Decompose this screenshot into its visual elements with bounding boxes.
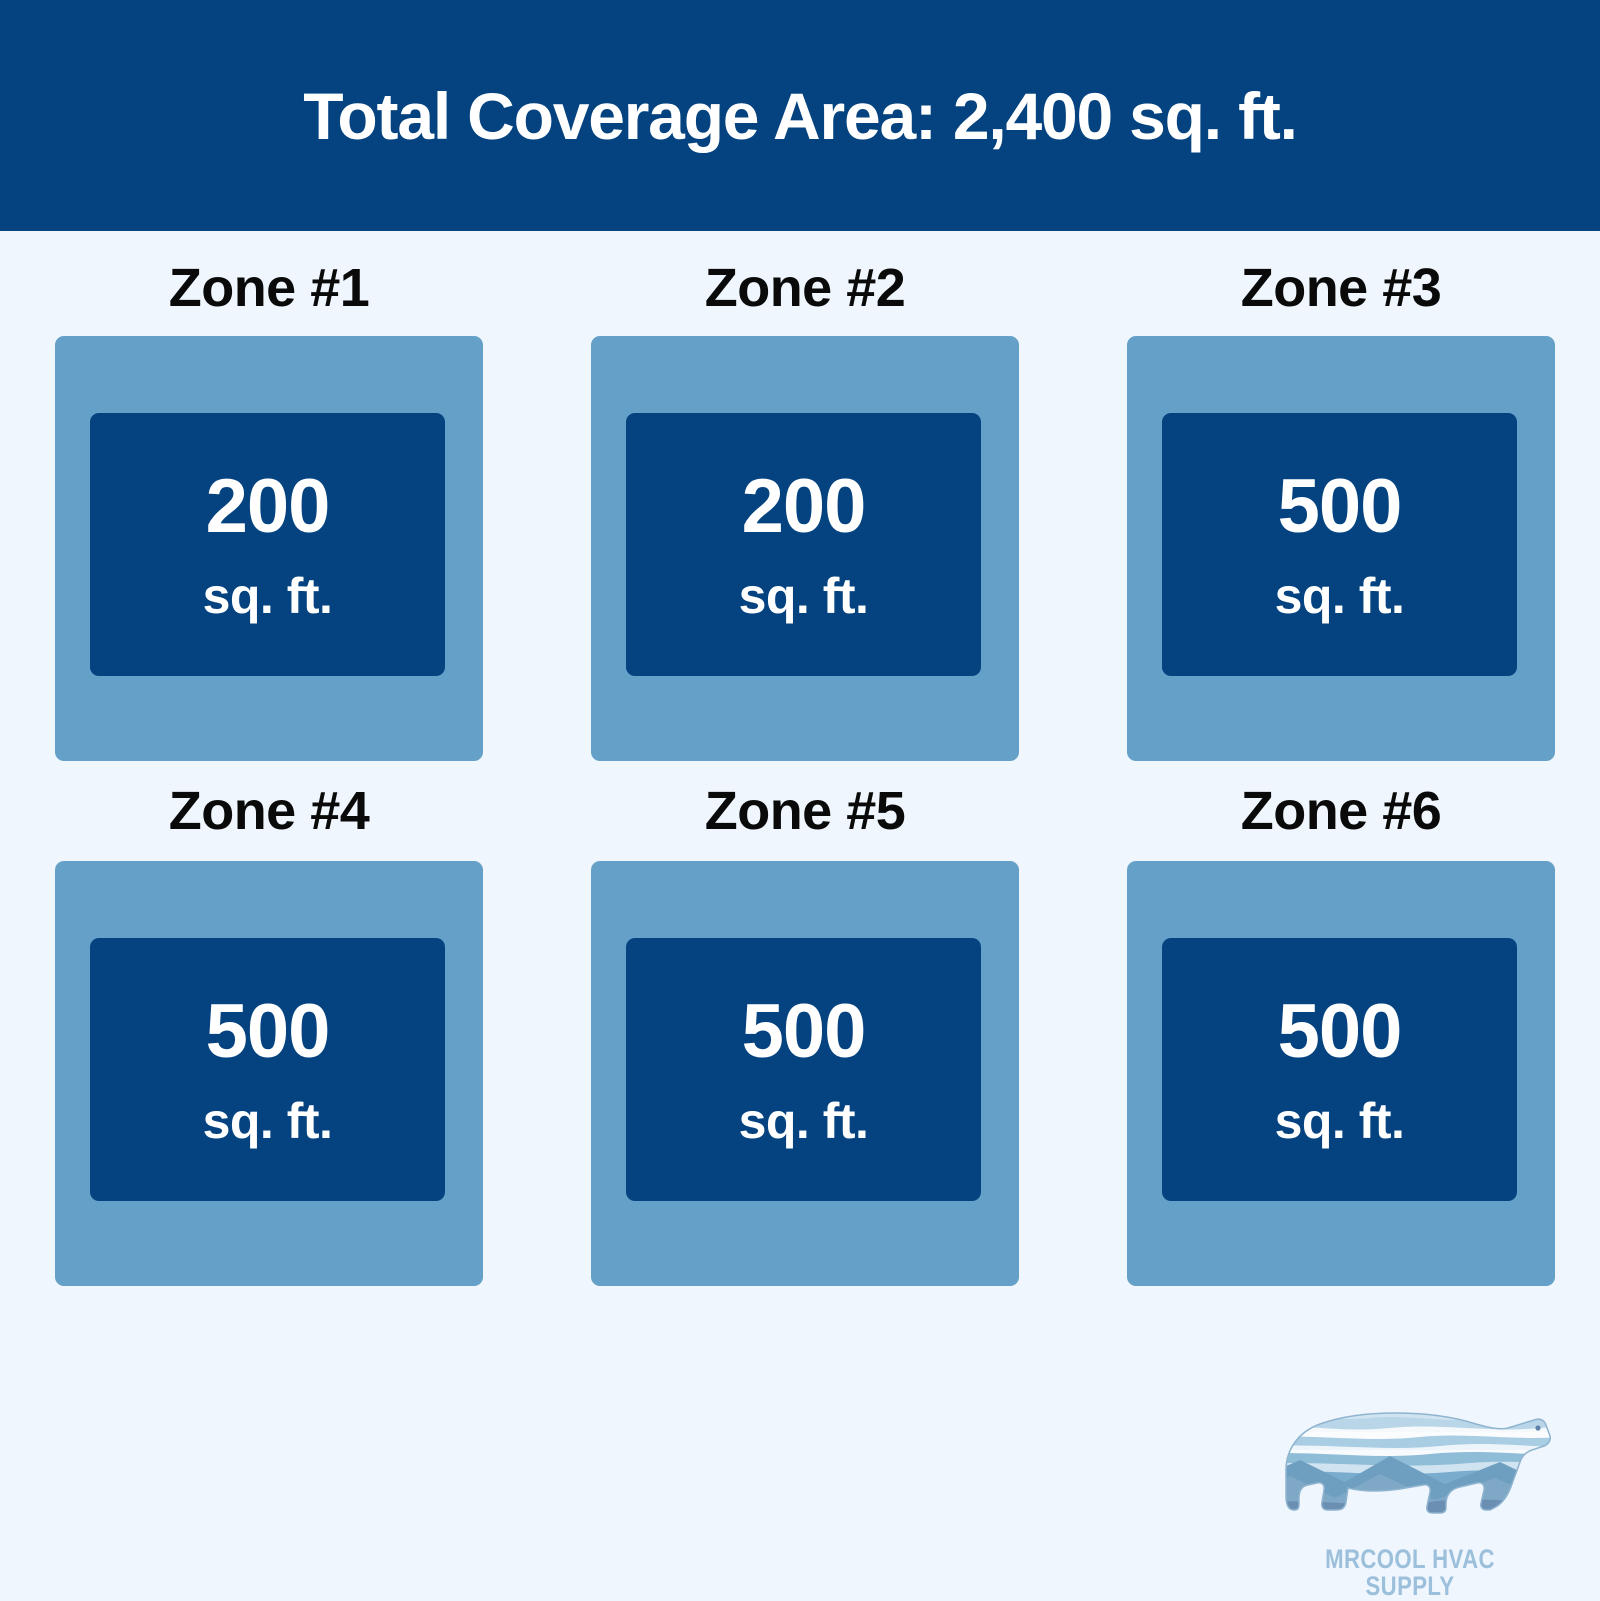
zone-value-6: 500: [1278, 994, 1402, 1070]
zone-inner-box-6: 500 sq. ft.: [1162, 938, 1517, 1201]
zone-outer-box-2[interactable]: 200 sq. ft.: [591, 336, 1019, 761]
zone-outer-box-5[interactable]: 500 sq. ft.: [591, 861, 1019, 1286]
zone-unit-1: sq. ft.: [203, 571, 333, 621]
zone-outer-box-1[interactable]: 200 sq. ft.: [55, 336, 483, 761]
zone-grid: Zone #1 200 sq. ft. Zone #2 200 sq. ft. …: [55, 240, 1555, 1286]
zone-cell-5[interactable]: Zone #5 500 sq. ft.: [591, 761, 1019, 1286]
zone-unit-2: sq. ft.: [739, 571, 869, 621]
page-title: Total Coverage Area: 2,400 sq. ft.: [303, 83, 1297, 149]
zone-outer-box-6[interactable]: 500 sq. ft.: [1127, 861, 1555, 1286]
zone-inner-box-5: 500 sq. ft.: [626, 938, 981, 1201]
zone-label-2: Zone #2: [591, 240, 1019, 336]
zone-outer-box-4[interactable]: 500 sq. ft.: [55, 861, 483, 1286]
zone-inner-box-2: 200 sq. ft.: [626, 413, 981, 676]
zone-inner-box-4: 500 sq. ft.: [90, 938, 445, 1201]
polar-bear-icon: [1250, 1392, 1570, 1544]
zone-label-5: Zone #5: [591, 761, 1019, 861]
zone-cell-4[interactable]: Zone #4 500 sq. ft.: [55, 761, 483, 1286]
zone-label-1: Zone #1: [55, 240, 483, 336]
zone-value-2: 200: [742, 469, 866, 545]
bear-eye-icon: [1535, 1425, 1540, 1430]
zone-value-5: 500: [742, 994, 866, 1070]
zone-value-3: 500: [1278, 469, 1402, 545]
zone-label-4: Zone #4: [55, 761, 483, 861]
zone-unit-4: sq. ft.: [203, 1096, 333, 1146]
zone-label-3: Zone #3: [1127, 240, 1555, 336]
zone-unit-6: sq. ft.: [1275, 1096, 1405, 1146]
zone-label-6: Zone #6: [1127, 761, 1555, 861]
zone-cell-3[interactable]: Zone #3 500 sq. ft.: [1127, 240, 1555, 761]
zone-cell-6[interactable]: Zone #6 500 sq. ft.: [1127, 761, 1555, 1286]
zone-outer-box-3[interactable]: 500 sq. ft.: [1127, 336, 1555, 761]
logo-wordmark: MRCOOL HVAC SUPPLY: [1279, 1546, 1541, 1600]
brand-logo: MRCOOL HVAC SUPPLY: [1250, 1392, 1570, 1592]
zone-cell-1[interactable]: Zone #1 200 sq. ft.: [55, 240, 483, 761]
zone-value-1: 200: [206, 469, 330, 545]
zone-value-4: 500: [206, 994, 330, 1070]
zone-unit-5: sq. ft.: [739, 1096, 869, 1146]
bear-landscape-fill: [1250, 1392, 1570, 1544]
zone-unit-3: sq. ft.: [1275, 571, 1405, 621]
zone-inner-box-1: 200 sq. ft.: [90, 413, 445, 676]
header-band: Total Coverage Area: 2,400 sq. ft.: [0, 0, 1600, 231]
zone-inner-box-3: 500 sq. ft.: [1162, 413, 1517, 676]
zone-cell-2[interactable]: Zone #2 200 sq. ft.: [591, 240, 1019, 761]
